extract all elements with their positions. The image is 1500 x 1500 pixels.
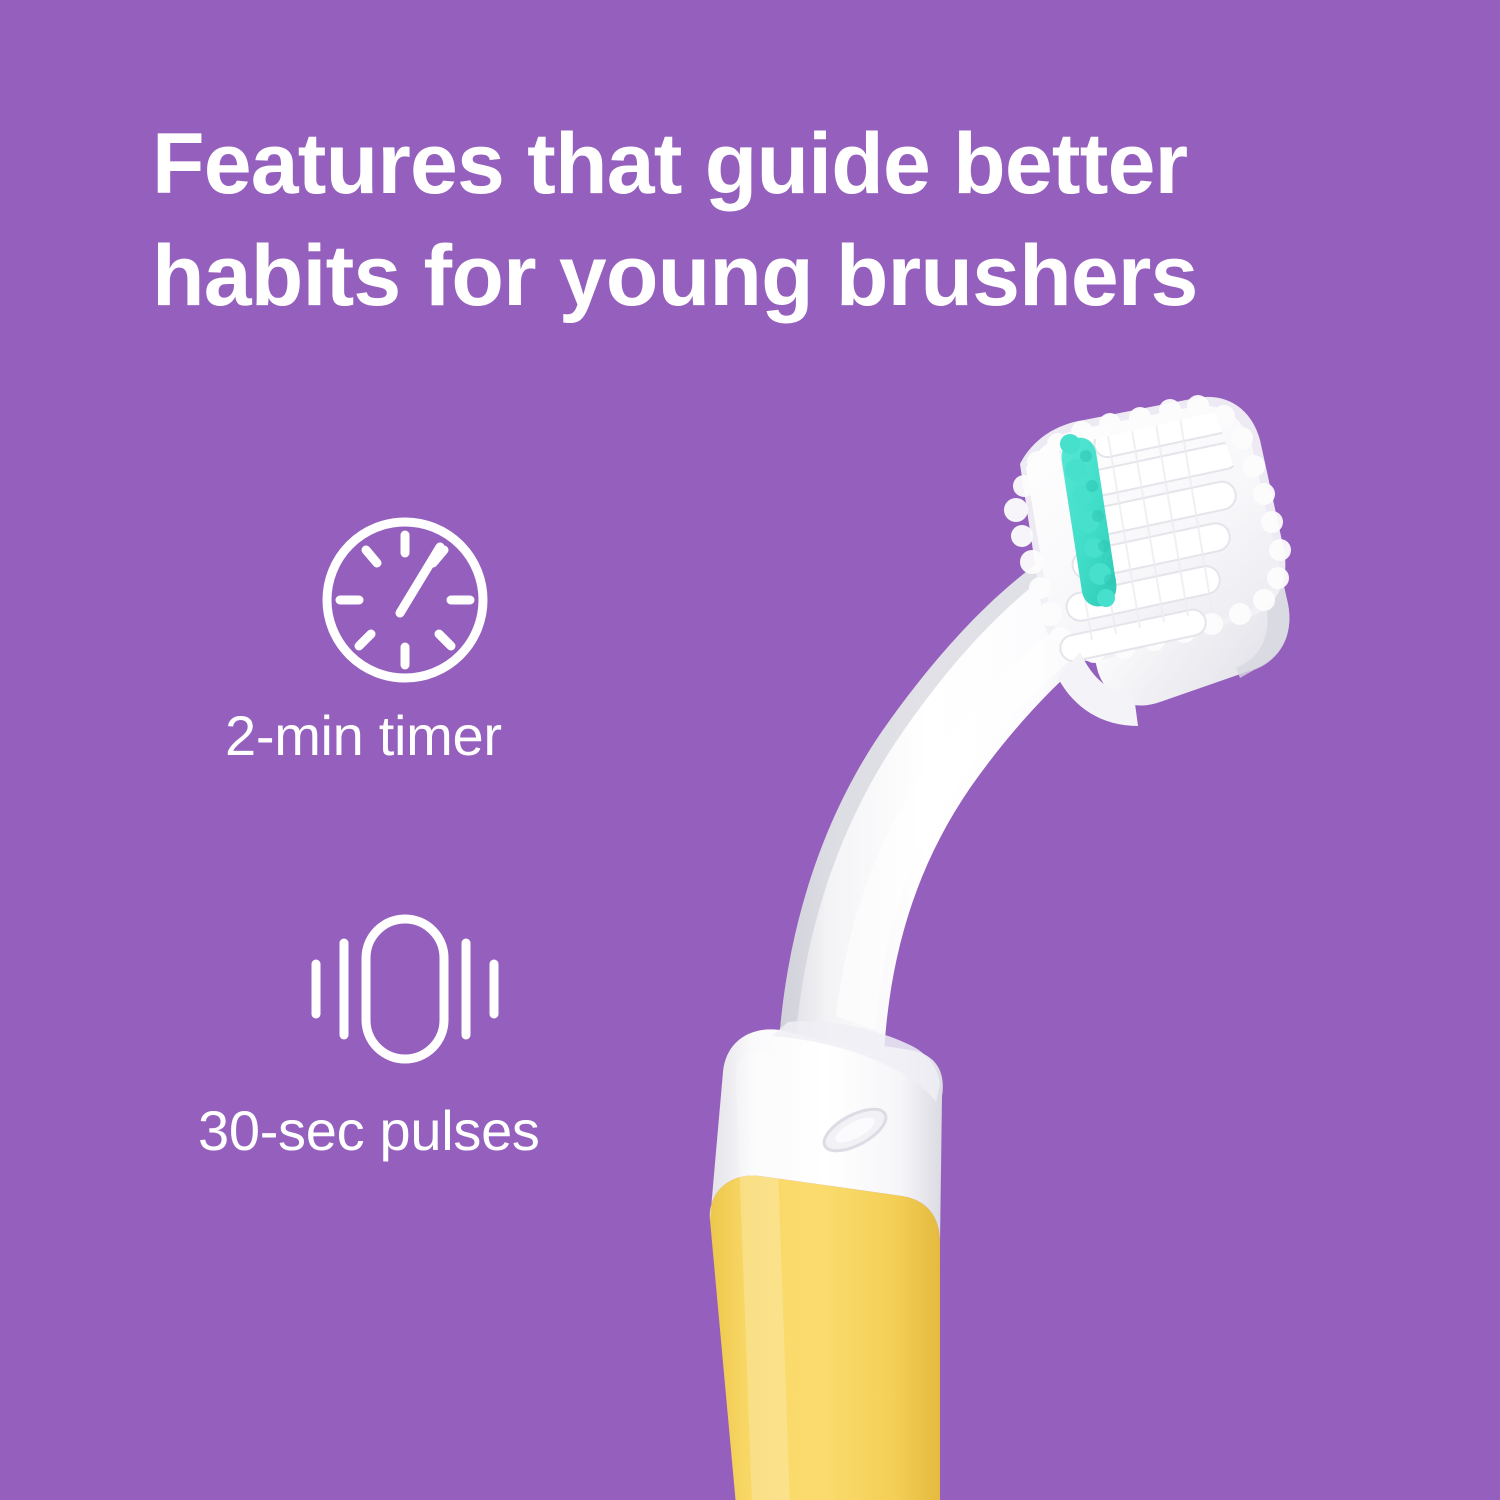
feature-label-timer: 2-min timer [225,703,502,768]
page-title: Features that guide better habits for yo… [152,108,1382,332]
feature-label-pulses: 30-sec pulses [198,1098,540,1163]
promo-banner: Features that guide better habits for yo… [0,0,1500,1500]
clock-icon [312,505,502,675]
vibration-pulse-icon [312,905,502,1075]
product-image-toothbrush [640,390,1340,1500]
